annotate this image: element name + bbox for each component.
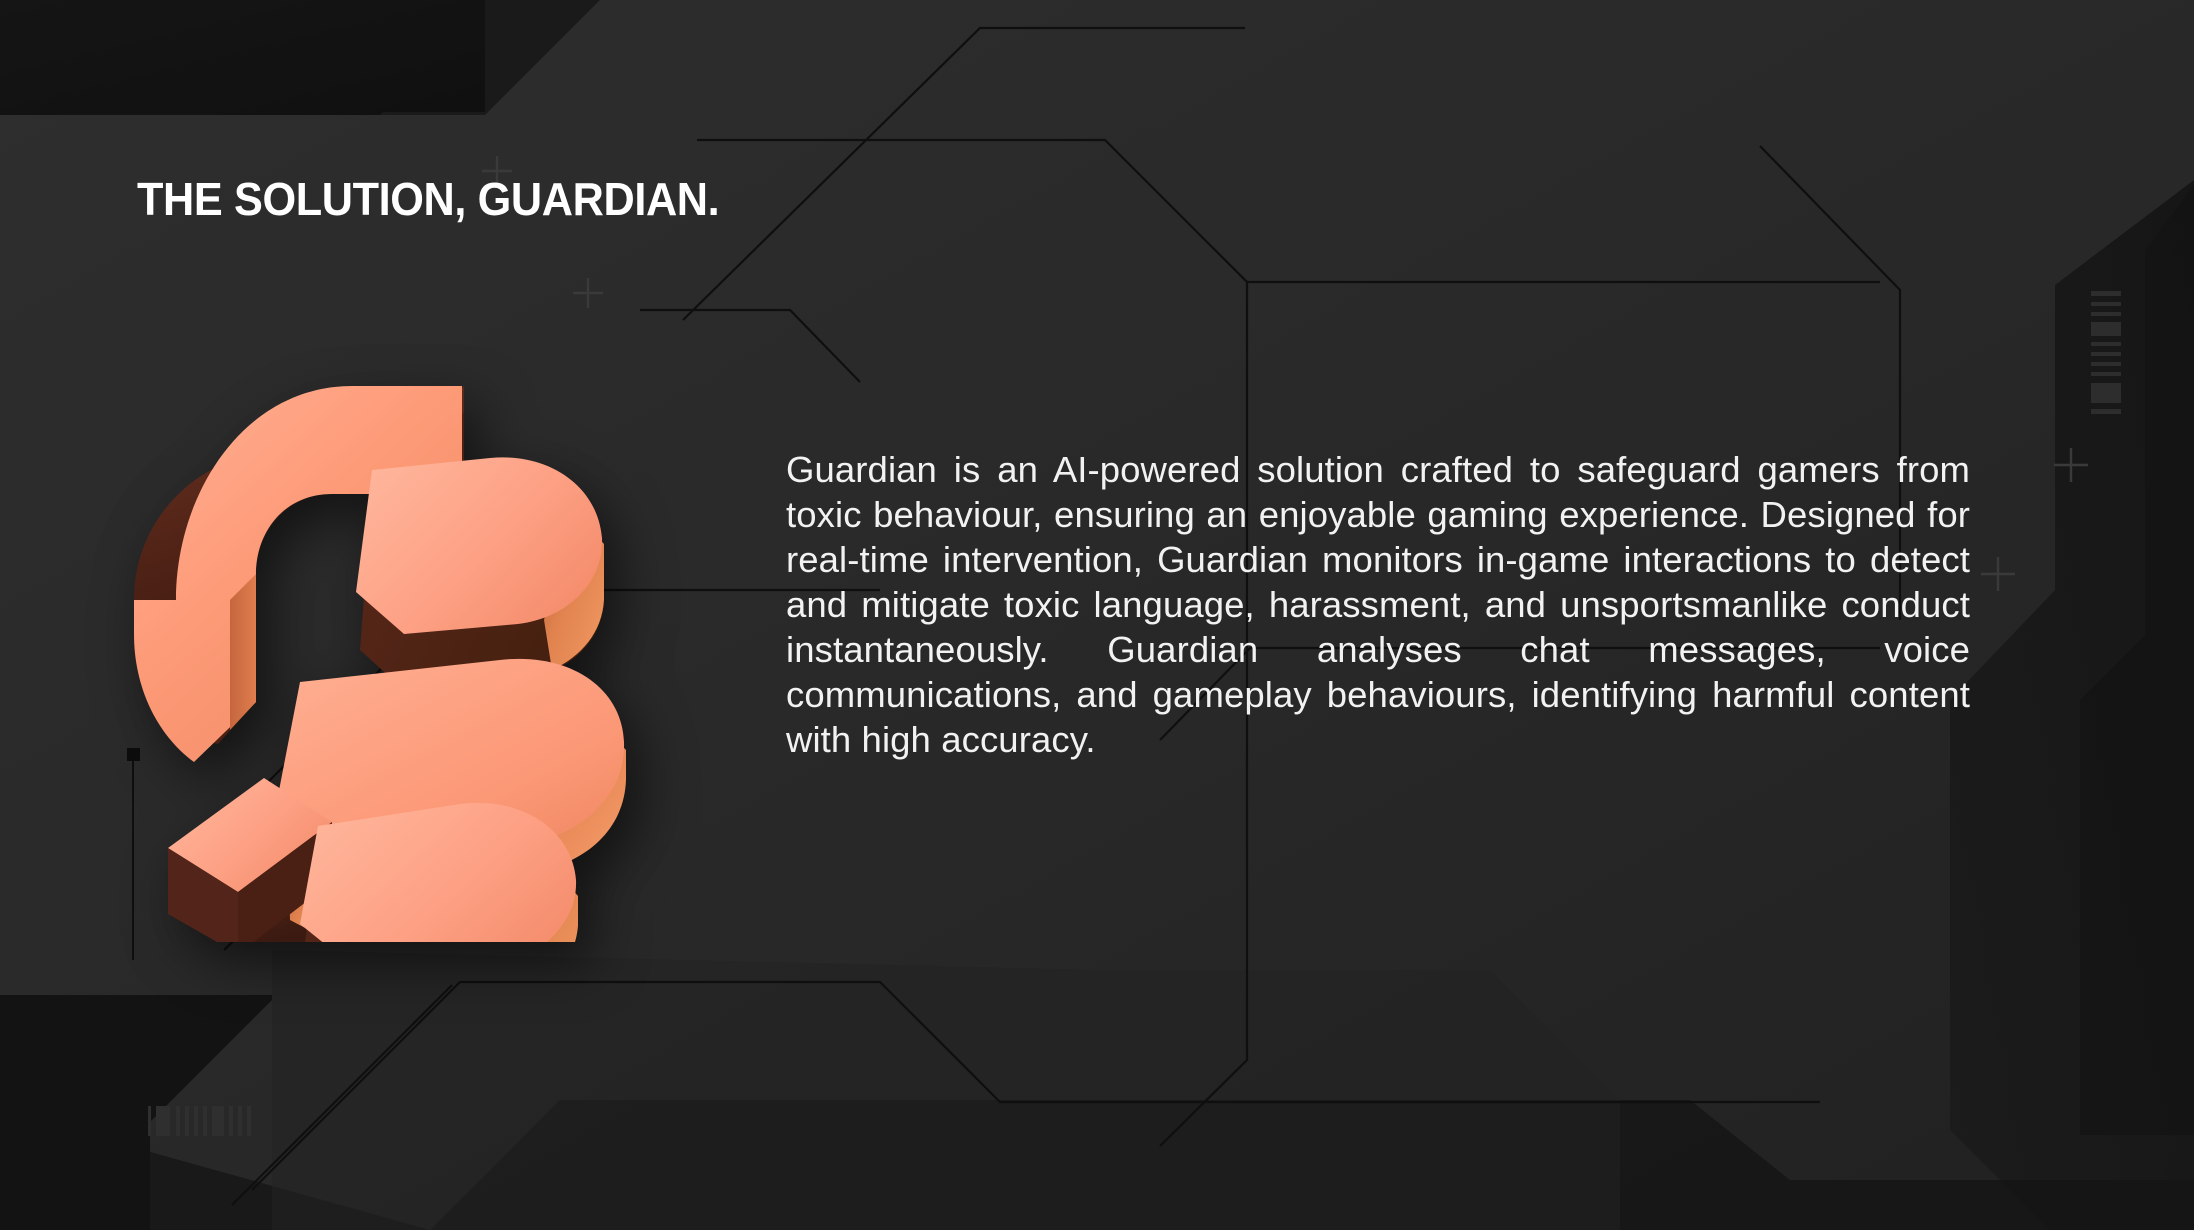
content-layer: THE SOLUTION, GUARDIAN. [0,0,2194,1230]
logo-hook-stem-side [230,574,256,730]
page-title: THE SOLUTION, GUARDIAN. [137,176,719,222]
slide-root: THE SOLUTION, GUARDIAN. [0,0,2194,1230]
logo-wedge-lr-top-face [300,803,576,942]
body-paragraph: Guardian is an AI-powered solution craft… [786,447,1970,762]
guardian-logo [104,282,744,942]
guardian-logo-graphic [104,282,744,942]
